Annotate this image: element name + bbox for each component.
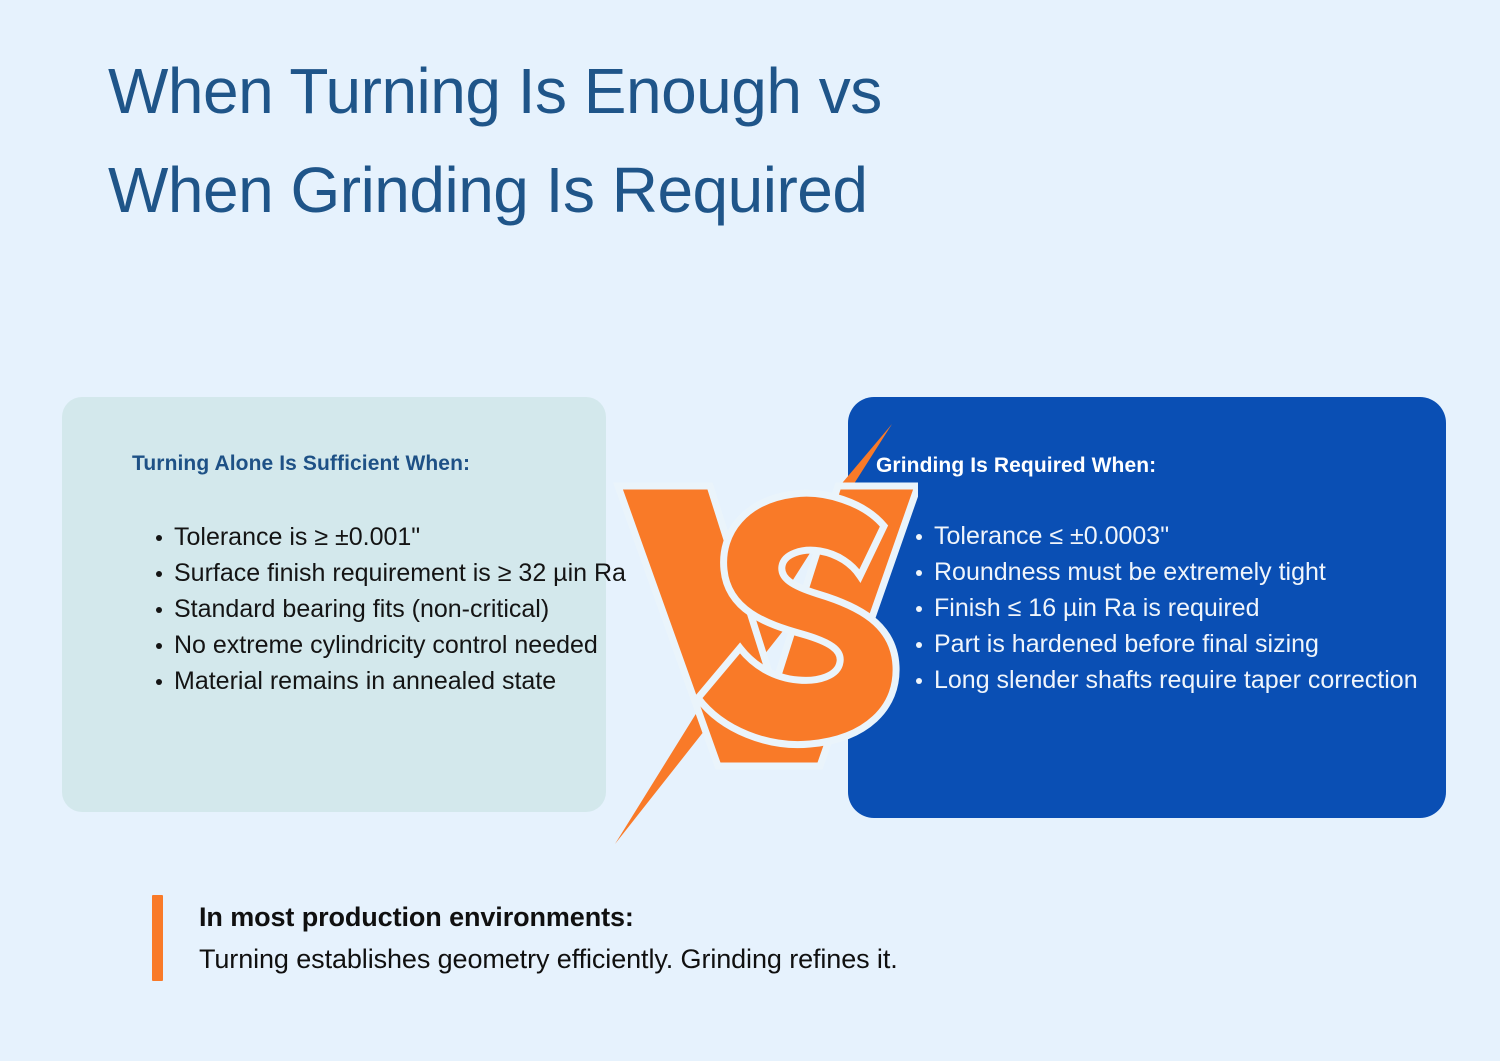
card-grinding-required: Grinding Is Required When: Tolerance ≤ ±… <box>848 397 1446 818</box>
list-item: Standard bearing fits (non-critical) <box>150 591 630 627</box>
list-item: Long slender shafts require taper correc… <box>910 662 1420 698</box>
list-item: No extreme cylindricity control needed <box>150 627 630 663</box>
turning-bullet-list: Tolerance is ≥ ±0.001" Surface finish re… <box>150 519 630 699</box>
footer-heading: In most production environments: <box>199 897 898 937</box>
grinding-bullet-list: Tolerance ≤ ±0.0003" Roundness must be e… <box>910 518 1420 698</box>
list-item: Tolerance is ≥ ±0.001" <box>150 519 630 555</box>
list-item: Part is hardened before final sizing <box>910 626 1420 662</box>
footer-body: Turning establishes geometry efficiently… <box>199 937 898 981</box>
list-item: Roundness must be extremely tight <box>910 554 1420 590</box>
list-item: Tolerance ≤ ±0.0003" <box>910 518 1420 554</box>
page-title: When Turning Is Enough vs When Grinding … <box>108 42 988 240</box>
card-grinding-heading: Grinding Is Required When: <box>876 454 1156 478</box>
footer-text-block: In most production environments: Turning… <box>163 895 898 981</box>
list-item: Finish ≤ 16 µin Ra is required <box>910 590 1420 626</box>
card-turning-sufficient: Turning Alone Is Sufficient When: Tolera… <box>62 397 606 812</box>
footer-accent-bar <box>152 895 163 981</box>
list-item: Surface finish requirement is ≥ 32 µin R… <box>150 555 630 591</box>
card-turning-heading: Turning Alone Is Sufficient When: <box>132 452 470 476</box>
list-item: Material remains in annealed state <box>150 663 630 699</box>
footer-callout: In most production environments: Turning… <box>152 895 898 981</box>
